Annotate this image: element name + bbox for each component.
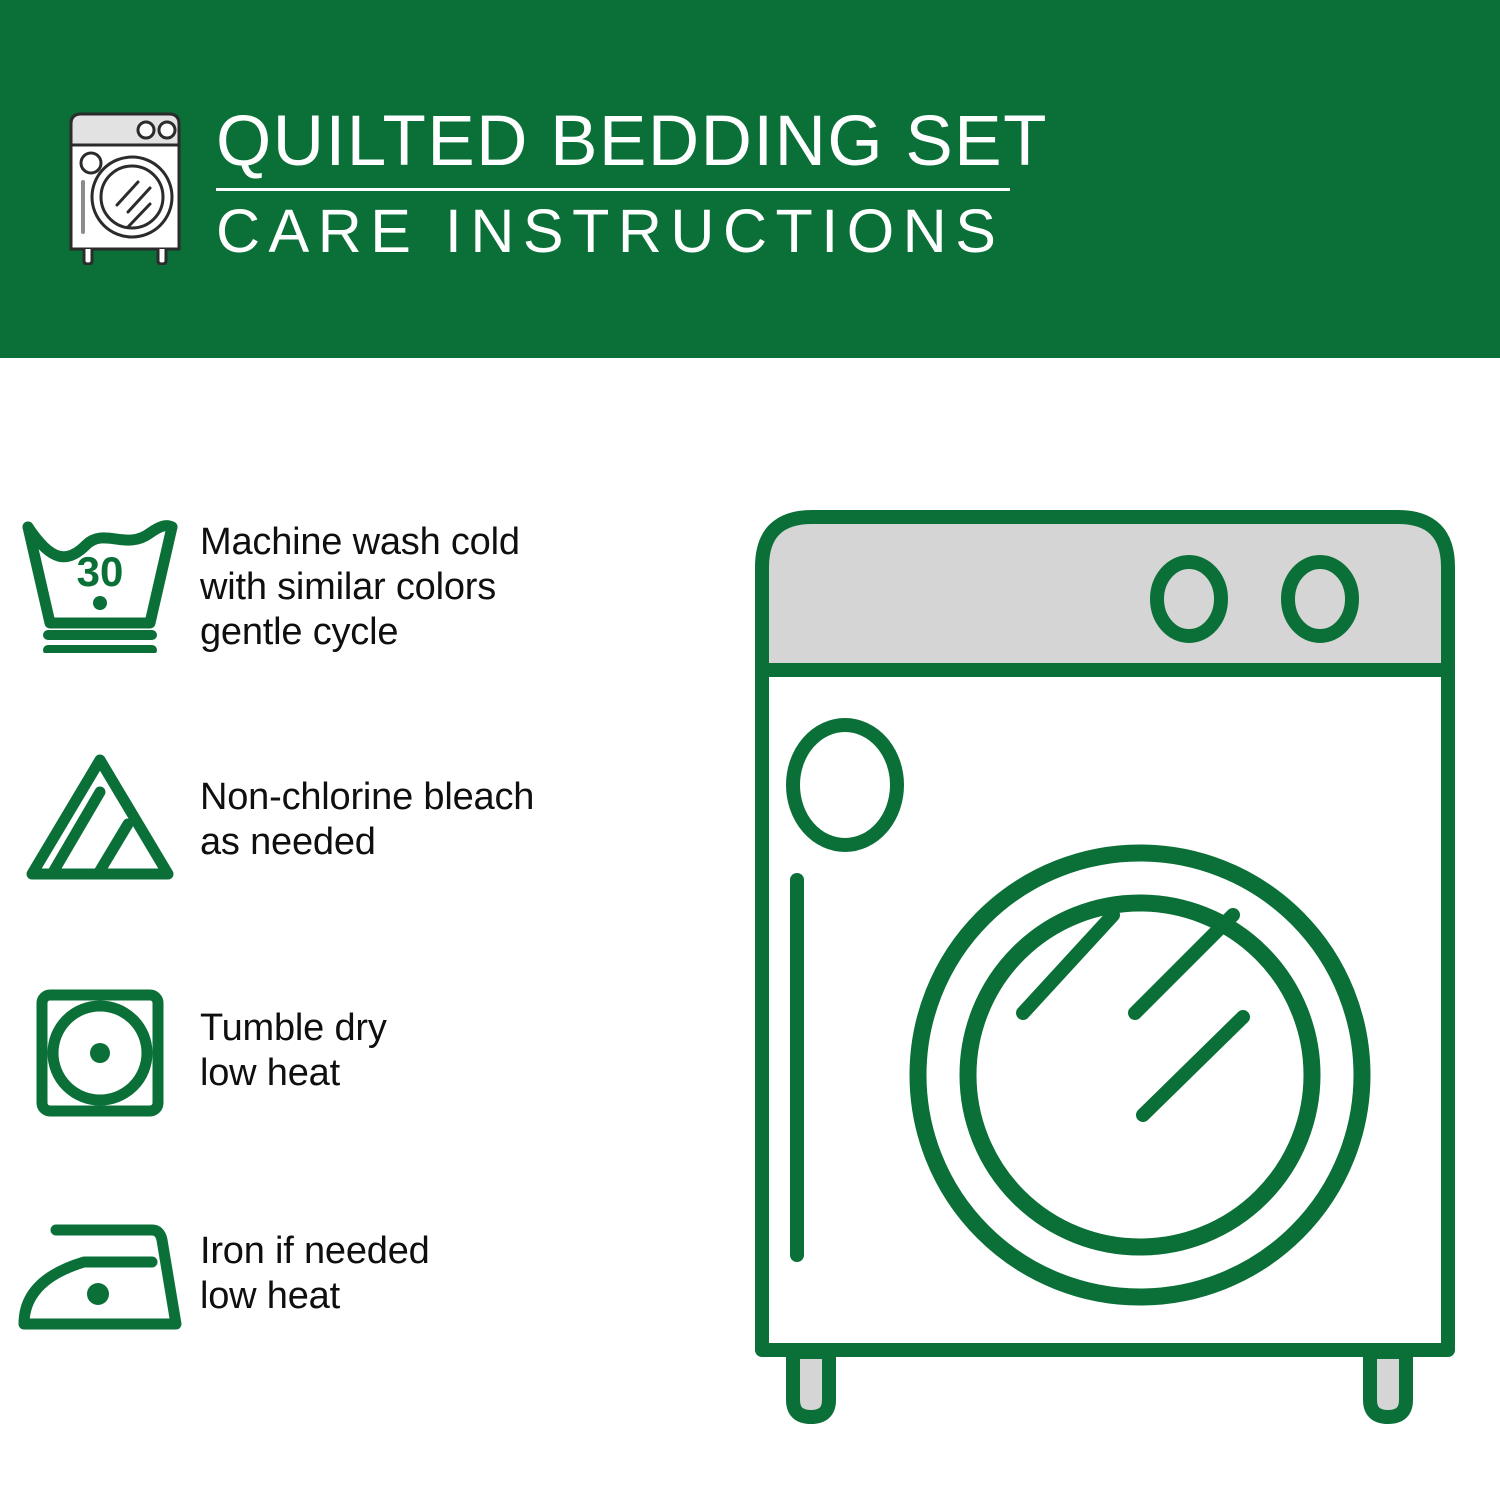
iron-low-heat-icon	[12, 1218, 188, 1338]
care-instructions-list: 30 Machine wash cold with similar colors…	[0, 358, 740, 1500]
page-title: QUILTED BEDDING SET	[216, 104, 1016, 180]
care-symbol-slot	[0, 978, 200, 1128]
drum-motion-lines	[1023, 915, 1243, 1115]
detergent-dispenser-circle[interactable]	[793, 725, 897, 845]
non-chlorine-bleach-triangle-icon	[20, 748, 180, 888]
care-symbol-slot	[0, 743, 200, 893]
care-instruction-row: Tumble dry low heat	[0, 978, 740, 1128]
care-instruction-text: Tumble dry low heat	[200, 978, 387, 1096]
section-subtitle: CARE INSTRUCTIONS	[216, 198, 1016, 264]
dryer-heat-dot-icon	[90, 1043, 110, 1063]
drum-inner-ring	[968, 903, 1312, 1247]
care-instruction-text: Iron if needed low heat	[200, 1203, 430, 1319]
wash-temperature-label: 30	[77, 548, 124, 595]
wash-dot-icon	[93, 596, 107, 610]
header-banner: QUILTED BEDDING SET CARE INSTRUCTIONS	[0, 0, 1500, 358]
front-load-washing-machine-illustration	[745, 495, 1465, 1430]
iron-heat-dot-icon	[87, 1283, 109, 1305]
care-symbol-slot: 30	[0, 508, 200, 658]
drum-outer-ring	[918, 853, 1362, 1297]
care-symbol-slot	[0, 1203, 200, 1353]
care-instruction-row: Non-chlorine bleach as needed	[0, 743, 740, 893]
care-instruction-row: Iron if needed low heat	[0, 1203, 740, 1353]
care-instruction-text: Machine wash cold with similar colors ge…	[200, 508, 520, 655]
header-text-block: QUILTED BEDDING SET CARE INSTRUCTIONS	[216, 104, 1016, 264]
leg-right	[1370, 1352, 1406, 1417]
title-divider	[216, 188, 1010, 191]
leg-left	[793, 1352, 829, 1417]
tumble-dry-low-heat-icon	[30, 983, 170, 1123]
washing-machine-icon	[62, 100, 202, 265]
care-instruction-text: Non-chlorine bleach as needed	[200, 743, 534, 865]
care-instruction-row: 30 Machine wash cold with similar colors…	[0, 508, 740, 658]
wash-tub-30-gentle-icon: 30	[16, 513, 184, 653]
